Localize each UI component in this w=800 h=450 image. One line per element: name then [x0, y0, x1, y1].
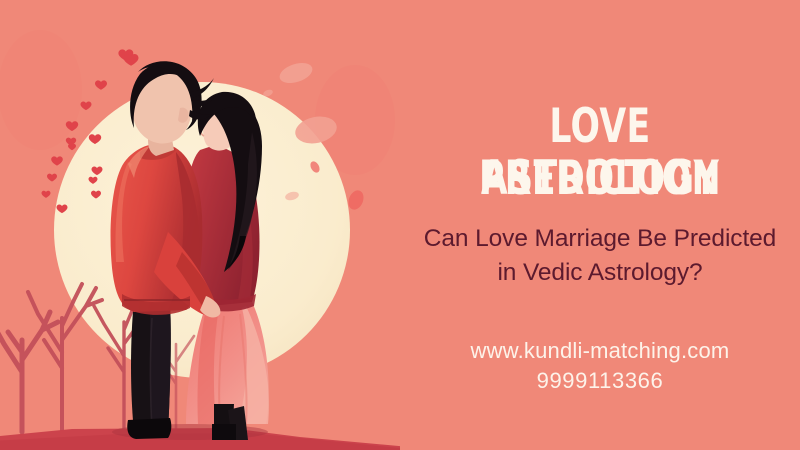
illustration-svg	[0, 0, 400, 450]
headline-line-2: PREDICTION	[436, 153, 764, 205]
man-shoes	[127, 418, 171, 439]
text-panel: LOVE ASTROLOGY PREDICTION Can Love Marri…	[400, 0, 800, 450]
phone-number[interactable]: 9999113366	[400, 367, 800, 395]
couple-illustration	[0, 0, 400, 450]
website-url[interactable]: www.kundli-matching.com	[400, 337, 800, 365]
love-astrology-banner: LOVE ASTROLOGY PREDICTION Can Love Marri…	[0, 0, 800, 450]
subtitle-text: Can Love Marriage Be Predicted in Vedic …	[414, 222, 786, 290]
